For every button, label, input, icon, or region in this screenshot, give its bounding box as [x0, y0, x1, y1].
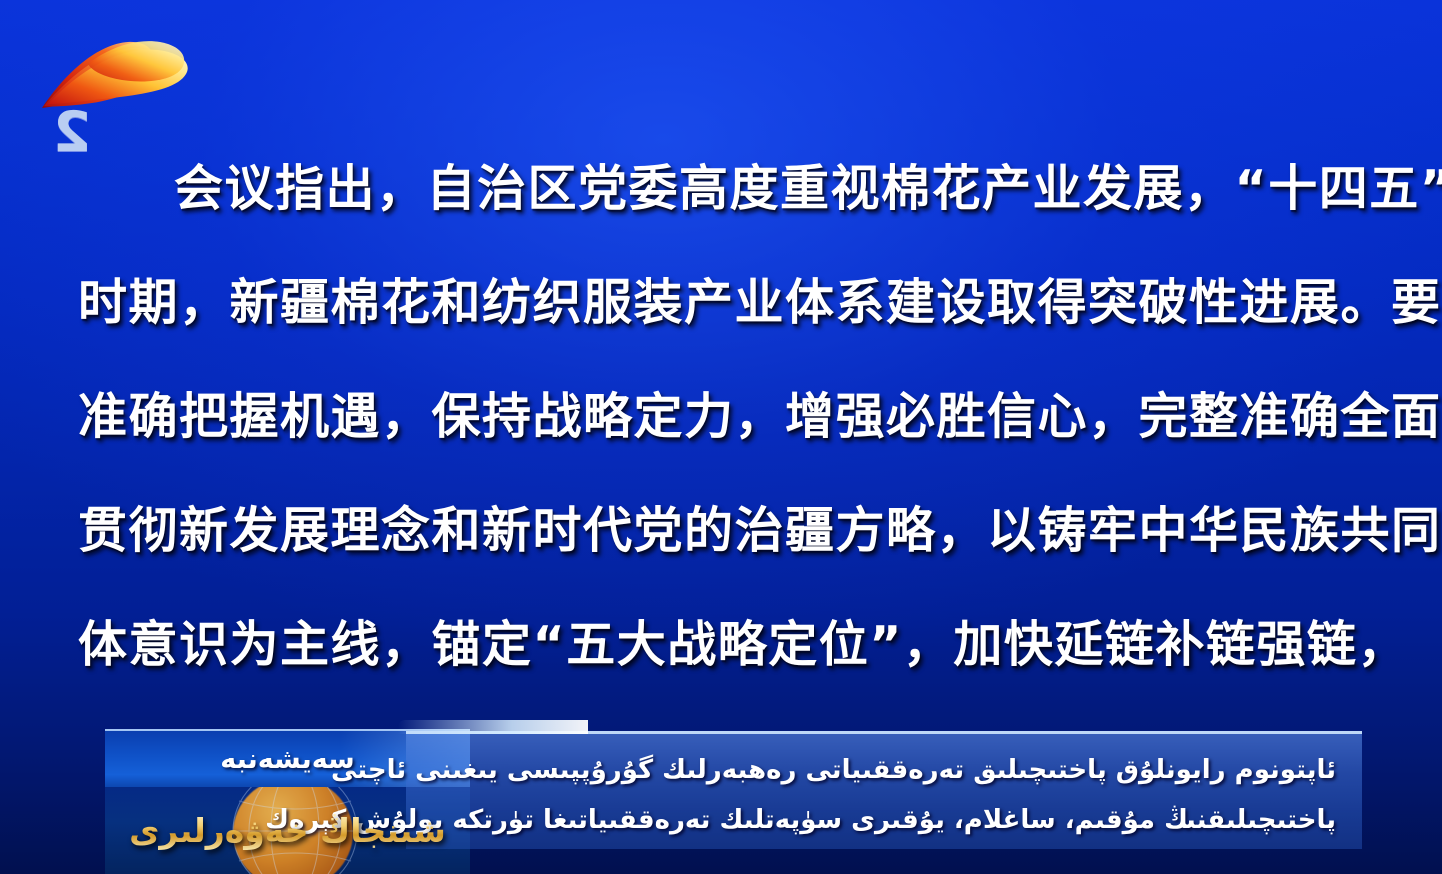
- caption-line-1: 会议指出，自治区党委高度重视棉花产业发展，“十四五”: [78, 132, 1380, 246]
- main-caption-block: 会议指出，自治区党委高度重视棉花产业发展，“十四五” 时期，新疆棉花和纺织服装产…: [0, 132, 1442, 702]
- program-name-label: شىنجاڭ خەۋەرلىرى: [129, 811, 446, 850]
- caption-line-5: 体意识为主线，锚定“五大战略定位”，加快延链补链强链，: [78, 588, 1380, 702]
- day-label: سەيشەنبە: [220, 744, 354, 775]
- caption-line-4: 贯彻新发展理念和新时代党的治疆方略，以铸牢中华民族共同: [78, 474, 1380, 588]
- subtitle-line-2: پاختىچىلىقنىڭ مۇقىم، ساغلام، يۇقىرى سۈپە…: [432, 795, 1336, 845]
- channel-logo: 2: [36, 28, 201, 146]
- subtitle-panel: ئاپتونوم رايونلۇق پاختىچىلىق تەرەققىياتى…: [406, 731, 1362, 849]
- caption-line-2: 时期，新疆棉花和纺织服装产业体系建设取得突破性进展。要: [78, 246, 1380, 360]
- caption-line-3: 准确把握机遇，保持战略定力，增强必胜信心，完整准确全面: [78, 360, 1380, 474]
- broadcast-video-frame: 2 会议指出，自治区党委高度重视棉花产业发展，“十四五” 时期，新疆棉花和纺织服…: [0, 0, 1442, 874]
- subtitle-line-1: ئاپتونوم رايونلۇق پاختىچىلىق تەرەققىياتى…: [432, 745, 1336, 795]
